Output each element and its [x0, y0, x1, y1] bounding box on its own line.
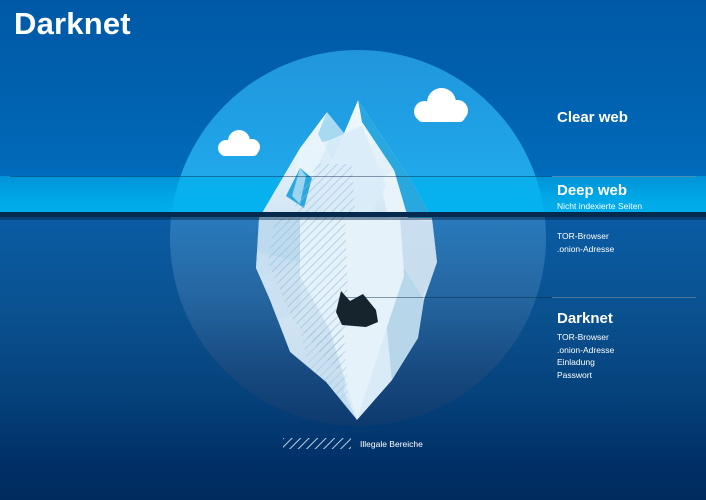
- darknet-iceberg-infographic: Darknet Clear web Deep web Nicht indexie…: [0, 0, 706, 500]
- legend: Illegale Bereiche: [283, 438, 423, 449]
- label-darknet-item-0: TOR-Browser: [557, 331, 614, 344]
- legend-label: Illegale Bereiche: [360, 439, 423, 449]
- label-deep-web: Deep web Nicht indexierte Seiten: [557, 181, 642, 212]
- label-darknet-heading: Darknet: [557, 309, 614, 328]
- label-darknet: Darknet TOR-Browser .onion-Adresse Einla…: [557, 309, 614, 381]
- iceberg-tip: [259, 100, 432, 218]
- label-deep-web-subtitle: Nicht indexierte Seiten: [557, 200, 642, 212]
- label-darknet-item-2: Einladung: [557, 356, 614, 369]
- iceberg-underwater: [250, 218, 440, 420]
- diagonal-hatch-swatch-icon: [283, 438, 351, 449]
- divider-clear-deep-label: [552, 176, 696, 177]
- label-darknet-item-1: .onion-Adresse: [557, 344, 614, 357]
- label-clear-web-heading: Clear web: [557, 108, 628, 127]
- label-deep-web-item-1: .onion-Adresse: [557, 243, 614, 256]
- label-darknet-item-3: Passwort: [557, 369, 614, 382]
- label-deep-web-heading: Deep web: [557, 181, 642, 200]
- divider-deep-darknet-label: [552, 297, 696, 298]
- label-clear-web: Clear web: [557, 108, 628, 127]
- cloud-icon-small: [218, 130, 260, 156]
- label-deep-web-item-0: TOR-Browser: [557, 230, 614, 243]
- waterline-shadow: [0, 217, 706, 220]
- label-deep-web-items: TOR-Browser .onion-Adresse: [557, 230, 614, 255]
- cloud-icon-large: [414, 88, 468, 122]
- page-title: Darknet: [14, 6, 131, 42]
